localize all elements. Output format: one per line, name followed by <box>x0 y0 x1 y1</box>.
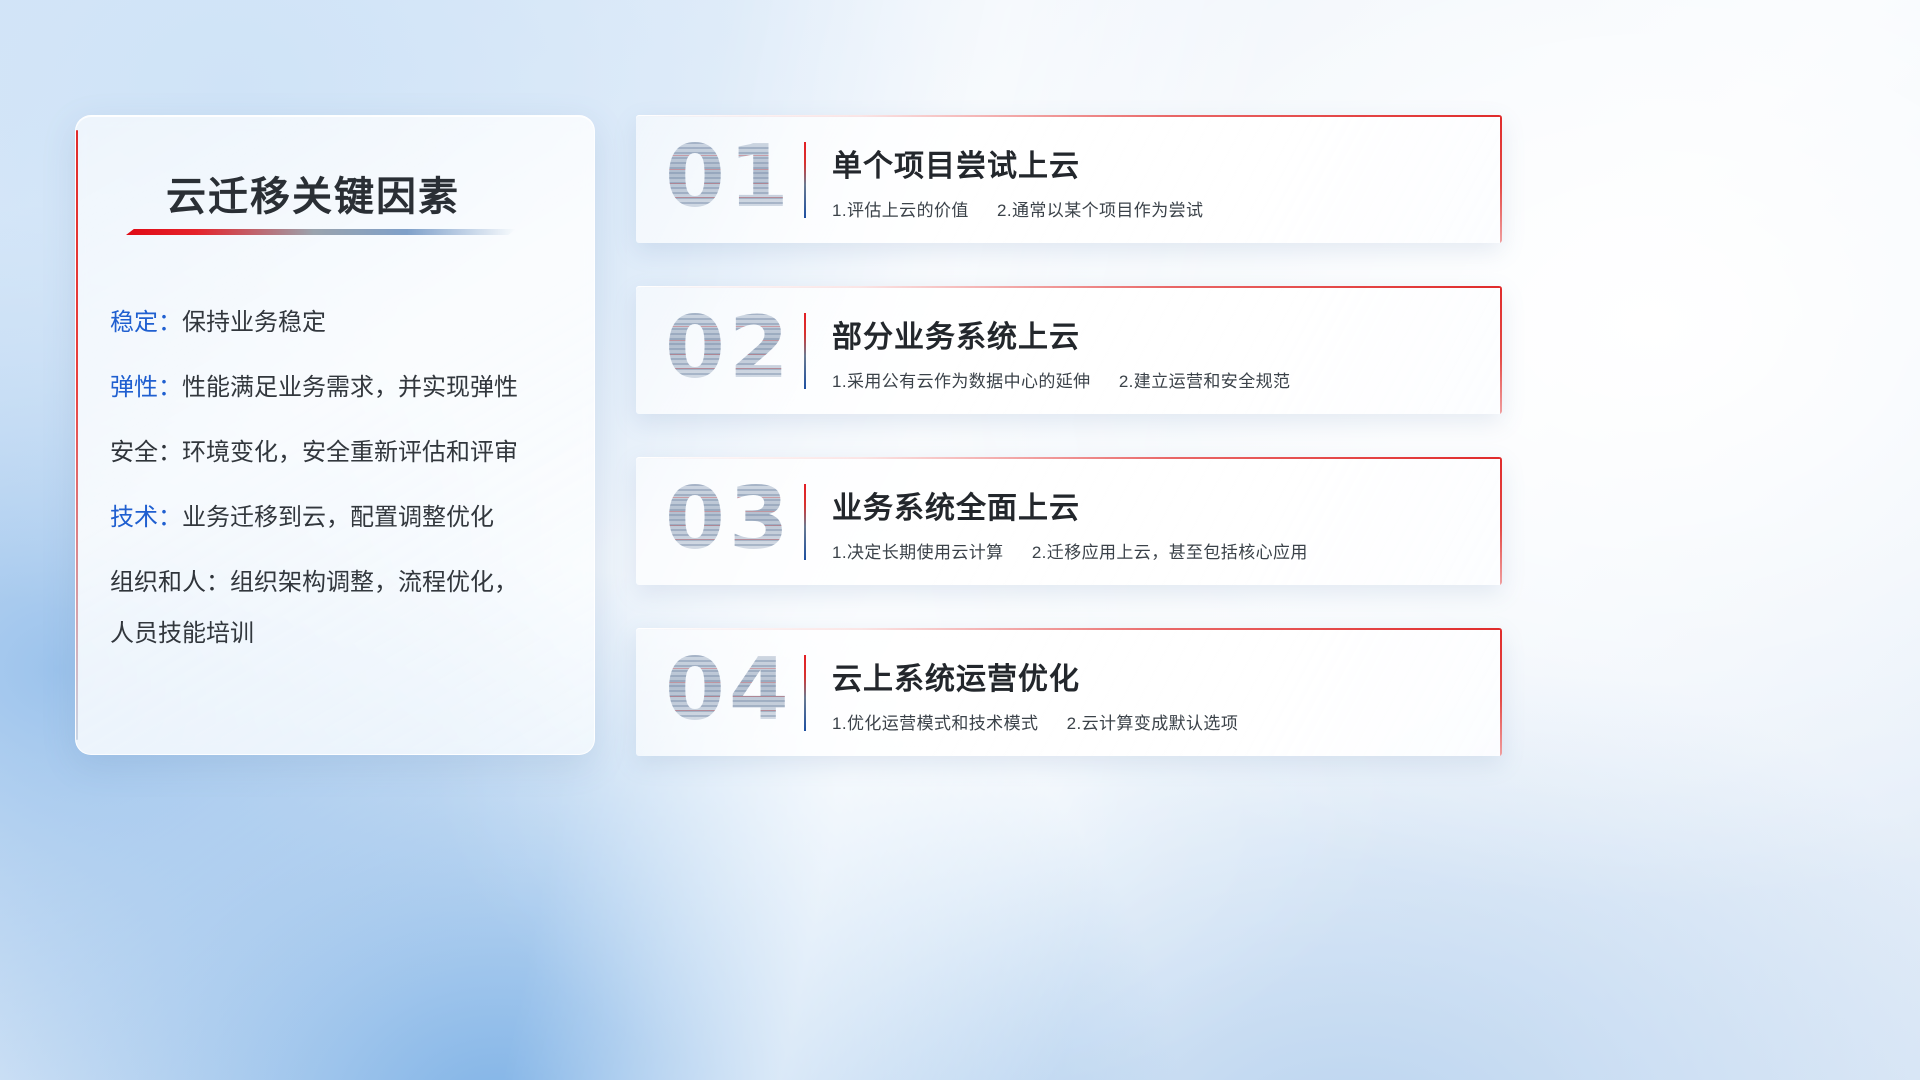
stage-divider <box>804 313 806 389</box>
page-title: 云迁移关键因素 <box>166 164 460 222</box>
stage-number: 01 <box>665 127 793 228</box>
list-item: 技术： 业务迁移到云，配置调整优化 <box>110 506 576 530</box>
stage-number: 04 <box>665 640 793 741</box>
list-item-text: 保持业务稳定 <box>182 311 326 335</box>
list-item: 弹性： 性能满足业务需求，并实现弹性 <box>110 376 576 400</box>
list-item-continuation: 人员技能培训 <box>110 622 576 646</box>
stage-number: 03 <box>665 469 793 570</box>
stage-point-1: 1.优化运营模式和技术模式 <box>832 714 1038 733</box>
list-item: 组织和人： 组织架构调整，流程优化， <box>110 571 576 595</box>
list-item-text: 性能满足业务需求，并实现弹性 <box>182 376 518 400</box>
stage-description: 1.优化运营模式和技术模式 2.云计算变成默认选项 <box>832 709 1238 734</box>
stage-point-2: 2.迁移应用上云，甚至包括核心应用 <box>1032 543 1308 562</box>
list-item-label: 技术： <box>110 506 182 530</box>
stage-divider <box>804 142 806 218</box>
list-item-text: 环境变化，安全重新评估和评审 <box>182 441 518 465</box>
list-item-label: 稳定： <box>110 311 182 335</box>
list-item-label: 弹性： <box>110 376 182 400</box>
list-item-label: 安全： <box>110 441 182 465</box>
key-factors-list: 稳定： 保持业务稳定 弹性： 性能满足业务需求，并实现弹性 安全： 环境变化，安… <box>110 311 576 646</box>
list-item: 安全： 环境变化，安全重新评估和评审 <box>110 441 576 465</box>
stage-divider <box>804 655 806 731</box>
stage-card[interactable]: 04 04 云上系统运营优化 1.优化运营模式和技术模式 2.云计算变成默认选项 <box>636 628 1502 756</box>
stage-number: 02 <box>665 298 793 399</box>
list-item: 稳定： 保持业务稳定 <box>110 311 576 335</box>
stage-point-2: 2.建立运营和安全规范 <box>1119 372 1291 391</box>
stage-title: 单个项目尝试上云 <box>832 141 1080 185</box>
stage-description: 1.评估上云的价值 2.通常以某个项目作为尝试 <box>832 196 1203 221</box>
stage-point-1: 1.采用公有云作为数据中心的延伸 <box>832 372 1091 391</box>
stage-description: 1.决定长期使用云计算 2.迁移应用上云，甚至包括核心应用 <box>832 538 1308 563</box>
stage-point-2: 2.云计算变成默认选项 <box>1067 714 1239 733</box>
stage-title: 云上系统运营优化 <box>832 654 1080 698</box>
title-underline-rule <box>126 229 516 235</box>
list-item-label: 组织和人： <box>110 571 230 595</box>
stage-divider <box>804 484 806 560</box>
list-item-text: 组织架构调整，流程优化， <box>230 571 518 595</box>
stage-description: 1.采用公有云作为数据中心的延伸 2.建立运营和安全规范 <box>832 367 1290 392</box>
stage-title: 部分业务系统上云 <box>832 312 1080 356</box>
stage-cards: 01 01 单个项目尝试上云 1.评估上云的价值 2.通常以某个项目作为尝试 0… <box>636 115 1502 756</box>
list-item-text: 人员技能培训 <box>110 622 254 646</box>
stage-card[interactable]: 02 02 部分业务系统上云 1.采用公有云作为数据中心的延伸 2.建立运营和安… <box>636 286 1502 414</box>
stage-title: 业务系统全面上云 <box>832 483 1080 527</box>
key-factors-panel: 云迁移关键因素 稳定： 保持业务稳定 弹性： 性能满足业务需求，并实现弹性 安全… <box>75 115 595 755</box>
stage-point-1: 1.评估上云的价值 <box>832 201 969 220</box>
list-item-text: 业务迁移到云，配置调整优化 <box>182 506 494 530</box>
stage-point-2: 2.通常以某个项目作为尝试 <box>997 201 1203 220</box>
stage-point-1: 1.决定长期使用云计算 <box>832 543 1004 562</box>
stage-card[interactable]: 01 01 单个项目尝试上云 1.评估上云的价值 2.通常以某个项目作为尝试 <box>636 115 1502 243</box>
stage-card[interactable]: 03 03 业务系统全面上云 1.决定长期使用云计算 2.迁移应用上云，甚至包括… <box>636 457 1502 585</box>
